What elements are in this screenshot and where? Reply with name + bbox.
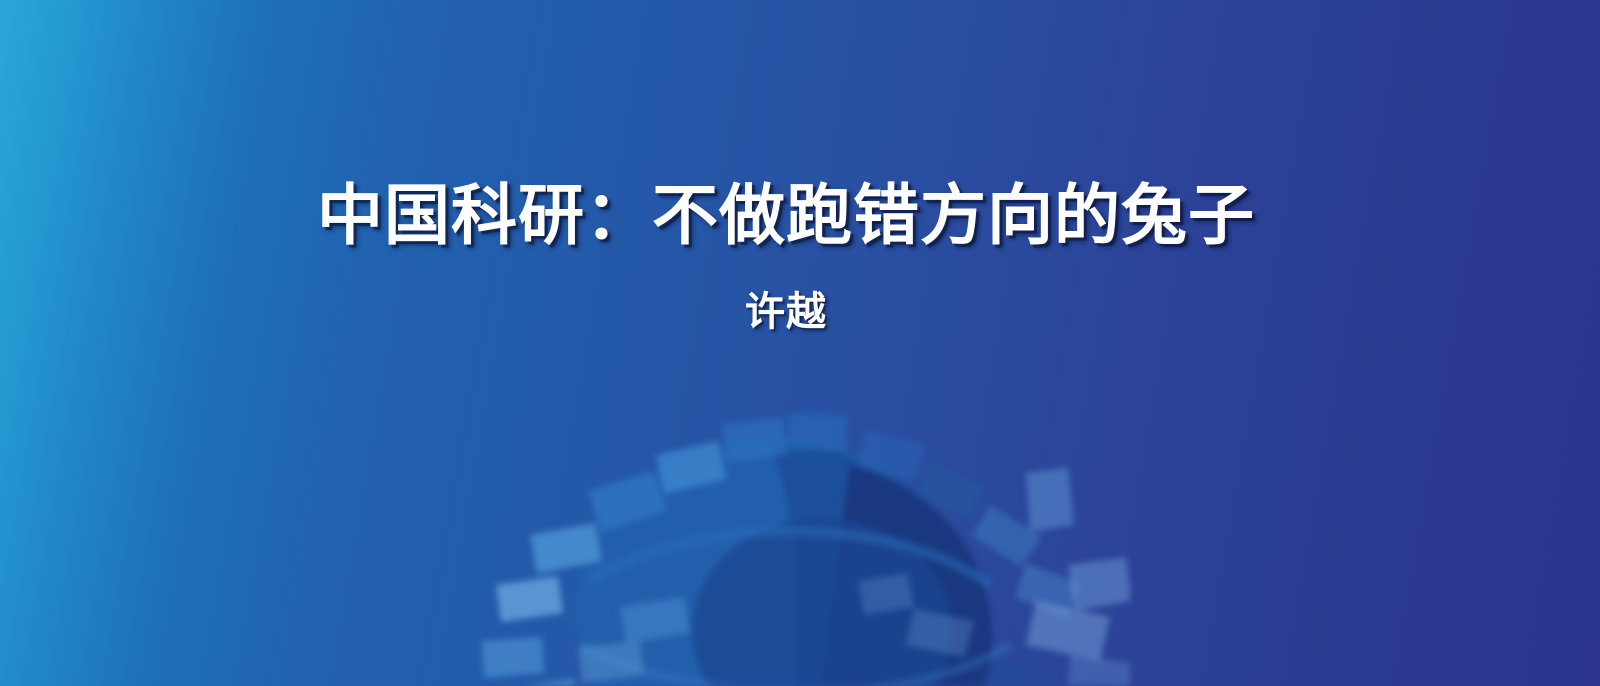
blurred-blue-polygon-gear-cluster-icon [470,395,1130,686]
presentation-slide: 中国科研：不做跑错方向的兔子 许越 [0,0,1600,686]
central-illustration [470,395,1130,686]
